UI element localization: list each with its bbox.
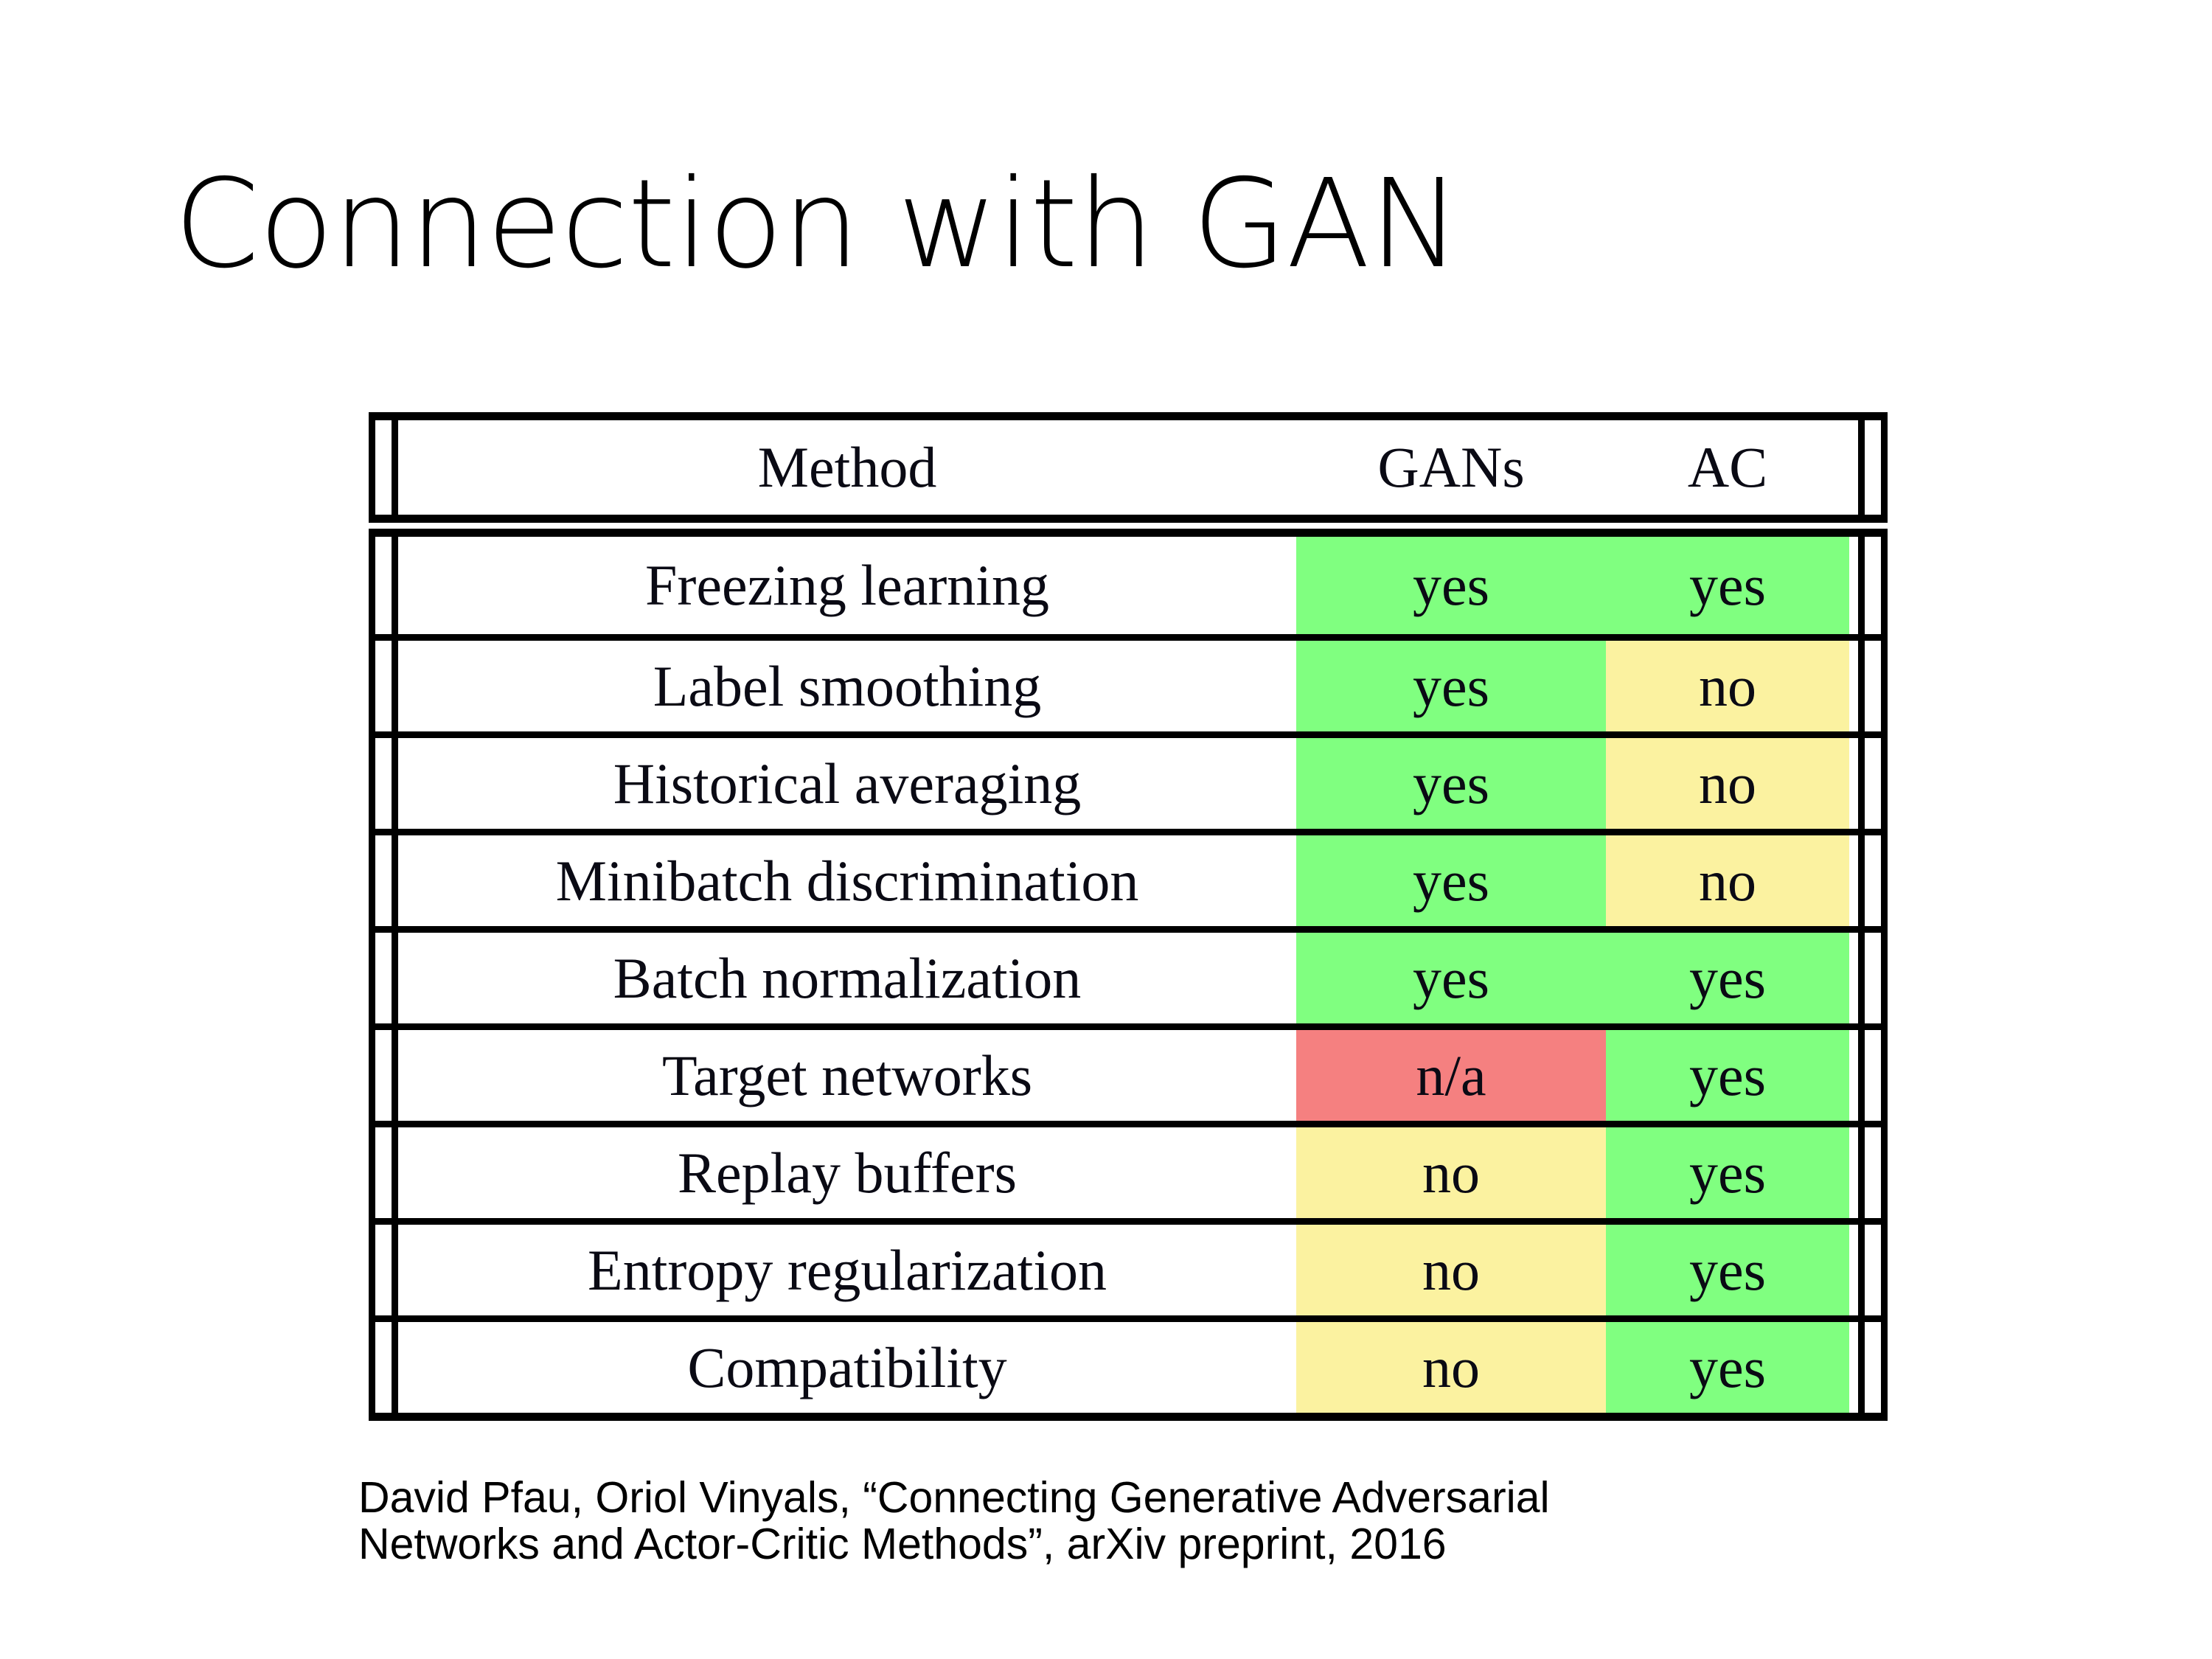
source-caption: David Pfau, Oriol Vinyals, “Connecting G… <box>358 1475 1907 1568</box>
table-row: Entropy regularizationnoyes <box>375 1218 1881 1315</box>
cell-ac: no <box>1606 738 1849 829</box>
table-row: Replay buffersnoyes <box>375 1121 1881 1218</box>
cell-method: Freezing learning <box>375 557 1296 614</box>
cell-ac: yes <box>1606 1225 1849 1315</box>
page-title: Connection with GAN <box>174 164 1460 286</box>
cell-ac: yes <box>1606 1322 1849 1413</box>
cell-method: Entropy regularization <box>375 1242 1296 1299</box>
cell-gans: yes <box>1296 933 1606 1023</box>
cell-ac: yes <box>1606 933 1849 1023</box>
cell-method: Replay buffers <box>375 1144 1296 1202</box>
table-row: Freezing learningyesyes <box>375 537 1881 634</box>
table-row: Historical averagingyesno <box>375 731 1881 829</box>
table-header-section: Method GANs AC <box>369 420 1888 515</box>
column-header-gans: GANs <box>1296 420 1606 515</box>
cell-ac: yes <box>1606 1127 1849 1218</box>
cell-method: Target networks <box>375 1047 1296 1105</box>
cell-method: Compatibility <box>375 1339 1296 1397</box>
cell-ac: yes <box>1606 1030 1849 1121</box>
cell-method: Historical averaging <box>375 755 1296 813</box>
table-row: Target networksn/ayes <box>375 1023 1881 1121</box>
cell-gans: no <box>1296 1127 1606 1218</box>
cell-gans: no <box>1296 1322 1606 1413</box>
table-body-section: Freezing learningyesyesLabel smoothingye… <box>369 537 1888 1413</box>
cell-gans: no <box>1296 1225 1606 1315</box>
table-bottom-rule <box>369 1413 1888 1421</box>
table-rows-container: Freezing learningyesyesLabel smoothingye… <box>375 537 1881 1413</box>
table-body-top-rule <box>369 529 1888 537</box>
cell-gans: yes <box>1296 537 1606 634</box>
caption-line-2: Networks and Actor-Critic Methods”, arXi… <box>358 1521 1907 1568</box>
table-row: Batch normalizationyesyes <box>375 926 1881 1023</box>
table-header-bottom-rule <box>369 515 1888 523</box>
table-top-rule <box>369 412 1888 420</box>
table-row: Minibatch discriminationyesno <box>375 829 1881 926</box>
caption-line-1: David Pfau, Oriol Vinyals, “Connecting G… <box>358 1475 1907 1521</box>
cell-ac: no <box>1606 835 1849 926</box>
cell-gans: yes <box>1296 738 1606 829</box>
column-header-ac: AC <box>1606 420 1849 515</box>
cell-ac: yes <box>1606 537 1849 634</box>
column-header-method: Method <box>375 439 1296 496</box>
cell-method: Batch normalization <box>375 950 1296 1007</box>
table-row: Compatibilitynoyes <box>375 1315 1881 1413</box>
comparison-table: Method GANs AC Freezing learningyesyesLa… <box>369 420 1888 1413</box>
cell-gans: yes <box>1296 835 1606 926</box>
table-header-row: Method GANs AC <box>375 420 1881 515</box>
table-row: Label smoothingyesno <box>375 634 1881 731</box>
cell-gans: yes <box>1296 641 1606 731</box>
cell-ac: no <box>1606 641 1849 731</box>
cell-method: Minibatch discrimination <box>375 852 1296 910</box>
cell-gans: n/a <box>1296 1030 1606 1121</box>
cell-method: Label smoothing <box>375 658 1296 715</box>
